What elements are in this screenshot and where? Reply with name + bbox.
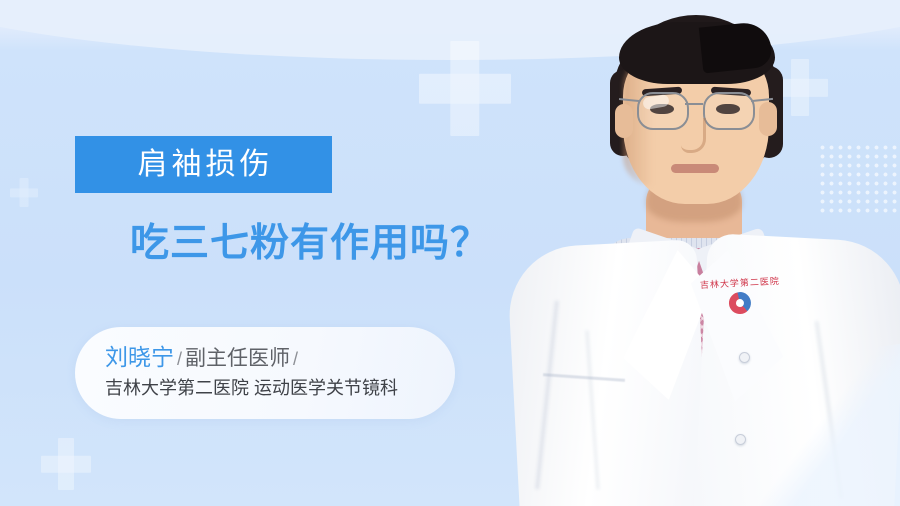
video-thumbnail-card: 吉林大学第二医院 肩袖损伤 吃三七粉有作用吗？ 刘晓宁/副主任医师/ 吉林大学第… [0,0,900,506]
hair-part [699,20,773,73]
coat-embroidery: 吉林大学第二医院 [684,273,799,335]
doctor-separator-2: / [290,349,301,369]
doctor-credential-line: 刘晓宁/副主任医师/ [105,343,441,373]
coat-button-upper [739,352,750,363]
doctor-name: 刘晓宁 [105,344,174,370]
hospital-logo-icon [728,291,751,314]
ear-left [615,104,633,138]
medical-cross-icon-tiny [10,178,38,207]
topic-tag: 肩袖损伤 [75,136,332,193]
doctor-separator-1: / [174,349,185,369]
topic-tag-label: 肩袖损伤 [134,150,274,180]
medical-cross-icon-bottom-left [41,438,91,490]
nose-shape [681,118,706,153]
mouth-shape [671,164,719,173]
coat-button-lower [735,434,746,445]
ear-right [759,102,777,136]
glasses-lens-right [703,92,755,130]
doctor-title: 副主任医师 [185,347,290,370]
doctor-info-card: 刘晓宁/副主任医师/ 吉林大学第二医院 运动医学关节镜科 [75,327,455,419]
glasses-bridge [685,103,703,105]
doctor-affiliation: 吉林大学第二医院 运动医学关节镜科 [105,373,441,403]
page-title: 吃三七粉有作用吗？ [130,222,490,267]
doctor-portrait: 吉林大学第二医院 [505,0,900,506]
